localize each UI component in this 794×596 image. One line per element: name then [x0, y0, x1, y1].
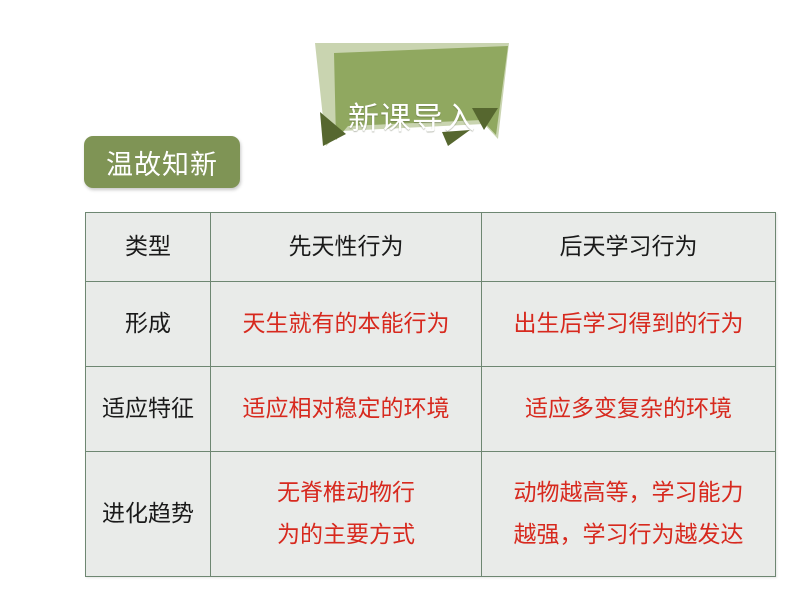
header-cell-innate: 先天性行为	[211, 213, 482, 282]
cell-formation-learned: 出生后学习得到的行为	[482, 282, 776, 367]
row-label-formation: 形成	[86, 282, 211, 367]
table-row: 适应特征 适应相对稳定的环境 适应多变复杂的环境	[86, 367, 776, 452]
row-label-evolution: 进化趋势	[86, 452, 211, 577]
review-box: 温故知新	[84, 136, 240, 188]
cell-adaptation-innate: 适应相对稳定的环境	[211, 367, 482, 452]
cell-adaptation-learned: 适应多变复杂的环境	[482, 367, 776, 452]
table-header-row: 类型 先天性行为 后天学习行为	[86, 213, 776, 282]
table-row: 形成 天生就有的本能行为 出生后学习得到的行为	[86, 282, 776, 367]
cell-evolution-innate-line1: 无脊椎动物行	[214, 472, 478, 514]
slide-canvas: 新课导入 温故知新 类型 先天性行为 后天学习行为 形成 天生就有的本能行为 出…	[0, 0, 794, 596]
comparison-table: 类型 先天性行为 后天学习行为 形成 天生就有的本能行为 出生后学习得到的行为 …	[85, 212, 776, 577]
cell-evolution-innate-line2: 为的主要方式	[214, 514, 478, 556]
title-banner: 新课导入	[312, 36, 512, 151]
banner-title: 新课导入	[312, 102, 512, 136]
cell-evolution-learned-line1: 动物越高等，学习能力	[485, 472, 772, 514]
cell-evolution-learned-line2: 越强，学习行为越发达	[485, 514, 772, 556]
header-cell-learned: 后天学习行为	[482, 213, 776, 282]
cell-evolution-learned: 动物越高等，学习能力 越强，学习行为越发达	[482, 452, 776, 577]
cell-evolution-innate: 无脊椎动物行 为的主要方式	[211, 452, 482, 577]
review-box-label: 温故知新	[84, 136, 240, 188]
row-label-adaptation: 适应特征	[86, 367, 211, 452]
header-cell-type: 类型	[86, 213, 211, 282]
cell-formation-innate: 天生就有的本能行为	[211, 282, 482, 367]
table-row: 进化趋势 无脊椎动物行 为的主要方式 动物越高等，学习能力 越强，学习行为越发达	[86, 452, 776, 577]
